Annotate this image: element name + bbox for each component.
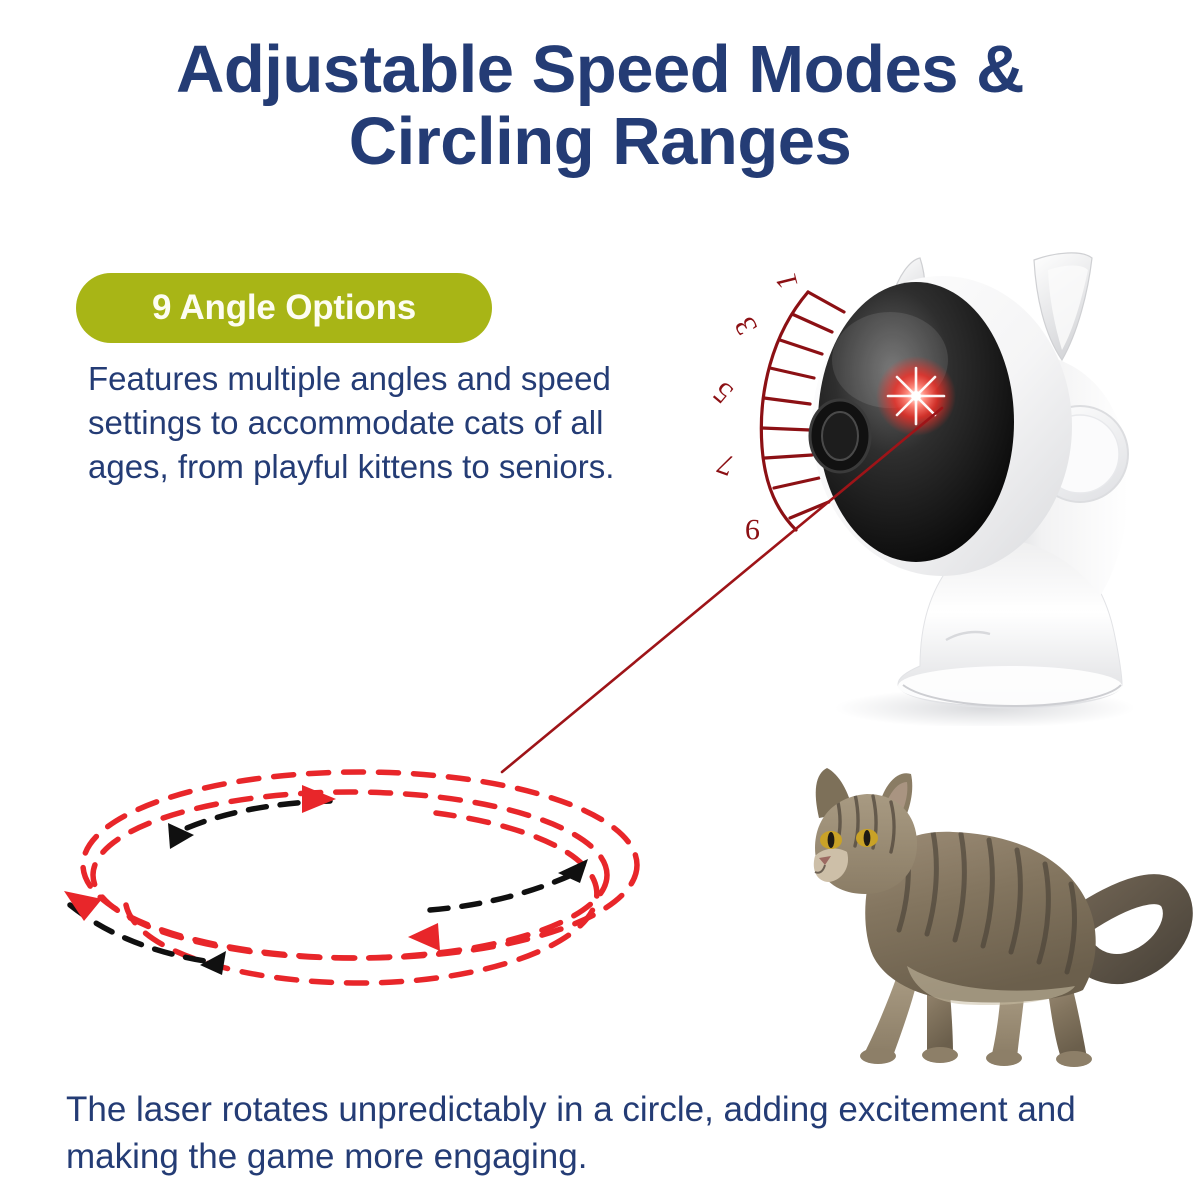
page-title-line-1: Adjustable Speed Modes & [176, 32, 1024, 107]
circling-range-svg [40, 755, 720, 1025]
kitten-left-pupil [828, 832, 835, 848]
red-loop-middle [93, 792, 607, 958]
laser-beam-svg [440, 380, 1000, 800]
black-arc-right [430, 871, 580, 910]
black-arrow-left [200, 951, 226, 975]
kitten-right-pupil [864, 830, 871, 846]
tabby-kitten [775, 752, 1195, 1082]
angle-scale-label-3: 3 [728, 311, 764, 340]
infographic-canvas: Adjustable Speed Modes & Circling Ranges… [0, 0, 1200, 1200]
page-title-line-2: Circling Ranges [0, 106, 1200, 178]
circling-range-diagram [40, 755, 720, 1025]
black-arrowheads [168, 823, 588, 975]
bottom-caption: The laser rotates unpredictably in a cir… [66, 1086, 1086, 1180]
laser-beam [440, 380, 1000, 800]
red-arrow-top [302, 785, 336, 813]
laser-beam-line [502, 408, 942, 772]
angle-options-badge-label: 9 Angle Options [152, 288, 416, 328]
tabby-kitten-svg [775, 752, 1195, 1082]
kitten-tail [1081, 889, 1178, 969]
angle-options-badge: 9 Angle Options [76, 273, 492, 343]
red-arrow-right [408, 923, 440, 951]
page-title: Adjustable Speed Modes & Circling Ranges [0, 34, 1200, 178]
